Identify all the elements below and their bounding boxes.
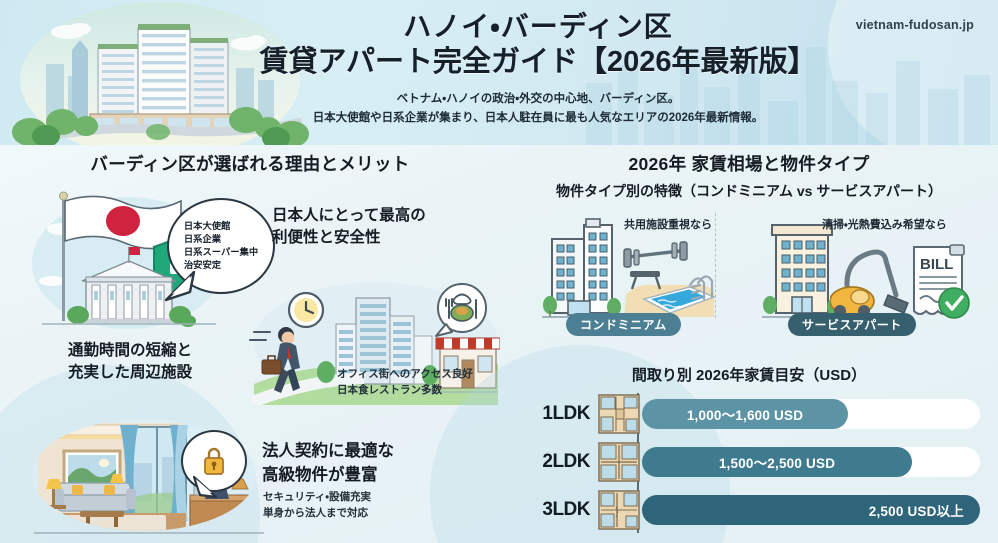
condo-badge: コンドミニアム — [566, 313, 681, 336]
benefit-2-line2: 充実した周辺施設 — [68, 362, 192, 384]
benefit-2-line1: 通勤時間の短縮と — [68, 340, 192, 362]
right-section-title: 2026年 家賃相場と物件タイプ — [500, 151, 998, 176]
benefit-2-subtext: オフィス街へのアクセス良好 日本食レストラン多数 — [337, 367, 473, 399]
lock-icon — [199, 445, 229, 477]
header-banner: ハノイ・バーディン区 賃貸アパート完全ガイド【2026年最新版】 ベトナム・ハノ… — [0, 0, 998, 145]
condo-building-icon — [542, 215, 622, 325]
page-title-line2: 賃貸アパート完全ガイド【2026年最新版】 — [258, 45, 818, 80]
bubble-tail-icon — [160, 270, 200, 304]
benefit-3-line1: 法人契約に最適な — [262, 440, 394, 464]
chart-bar-value-3ldk: 2,500 USD以上 — [869, 500, 964, 520]
bubble-line-1: 日本大使館 — [184, 220, 258, 233]
chart-row-label: 3LDK — [518, 499, 596, 521]
header-subtitle: ベトナム・ハノイの政治・外交の中心地、バーディン区。 日本大使館や日系企業が集ま… — [258, 90, 818, 128]
chart-title: 間取り別 2026年家賃目安（USD） — [500, 364, 998, 385]
serviced-caption: 清掃・光熱費込み希望なら — [822, 216, 947, 232]
benefit-3-subtext: セキュリティ・設備充実 単身から法人まで対応 — [263, 490, 371, 522]
body-content: バーディン区が選ばれる理由とメリット — [0, 145, 998, 543]
benefit-2-heading: 通勤時間の短縮と 充実した周辺施設 — [68, 340, 192, 385]
chart-bar-value-1ldk: 1,000〜1,600 USD — [687, 404, 803, 424]
embassy-bubble-text: 日本大使館 日系企業 日系スーパー集中 治安安定 — [184, 220, 258, 273]
benefit-1-line2: 利便性と安全性 — [272, 227, 426, 249]
infographic-canvas: ハノイ・バーディン区 賃貸アパート完全ガイド【2026年最新版】 ベトナム・ハノ… — [0, 0, 998, 543]
property-type-subheading: 物件タイプ別の特徴（コンドミニアム vs サービスアパート） — [500, 181, 998, 201]
gym-dumbbell-icon — [624, 242, 687, 267]
serviced-badge: サービスアパート — [788, 313, 916, 336]
benefit-3-sub1: セキュリティ・設備充実 — [263, 490, 371, 506]
security-bubble-tail-icon — [190, 475, 224, 501]
bubble-line-2: 日系企業 — [184, 233, 258, 246]
gym-pool-illustration — [618, 237, 718, 323]
bill-check-icon: BILL — [914, 245, 969, 318]
header-subtitle-line1: ベトナム・ハノイの政治・外交の中心地、バーディン区。 — [258, 90, 818, 109]
chart-bar-value-2ldk: 1,500〜2,500 USD — [719, 452, 835, 472]
chart-bar-2ldk: 1,500〜2,500 USD — [642, 447, 912, 477]
right-column: 2026年 家賃相場と物件タイプ 物件タイプ別の特徴（コンドミニアム vs サー… — [500, 145, 998, 543]
header-text-block: ハノイ・バーディン区 賃貸アパート完全ガイド【2026年最新版】 ベトナム・ハノ… — [258, 10, 818, 128]
left-column: バーディン区が選ばれる理由とメリット — [0, 145, 500, 543]
benefit-1-line1: 日本人にとって最高の — [272, 205, 426, 227]
chart-bar-3ldk: 2,500 USD以上 — [642, 495, 980, 525]
left-section-title: バーディン区が選ばれる理由とメリット — [0, 151, 500, 176]
benefit-2-sub2: 日本食レストラン多数 — [337, 383, 473, 399]
chart-bar-1ldk: 1,000〜1,600 USD — [642, 399, 848, 429]
site-url-label: vietnam-fudosan.jp — [856, 18, 974, 32]
cleaning-bill-illustration: BILL — [830, 237, 970, 323]
benefit-3-line2: 高級物件が豊富 — [262, 464, 394, 488]
condo-caption: 共用施設重視なら — [624, 216, 712, 232]
benefit-1-heading: 日本人にとって最高の 利便性と安全性 — [272, 205, 426, 250]
page-title-line1: ハノイ・バーディン区 — [258, 10, 818, 43]
chart-row-label: 1LDK — [518, 403, 596, 425]
svg-text:BILL: BILL — [920, 256, 953, 273]
benefit-2-sub1: オフィス街へのアクセス良好 — [337, 367, 473, 383]
vacuum-cleaner-icon — [830, 252, 908, 317]
header-subtitle-line2: 日本大使館や日系企業が集まり、日本人駐在員に最も人気なエリアの2026年最新情報… — [258, 109, 818, 128]
benefit-3-sub2: 単身から法人まで対応 — [263, 506, 371, 522]
floorplan-1ldk-icon — [596, 393, 642, 435]
benefit-3-heading: 法人契約に最適な 高級物件が豊富 — [262, 440, 394, 488]
chart-row-label: 2LDK — [518, 451, 596, 473]
bubble-line-3: 日系スーパー集中 — [184, 246, 258, 259]
floorplan-3ldk-icon — [596, 489, 642, 531]
floorplan-2ldk-icon — [596, 441, 642, 483]
rent-bar-chart: 1LDK 1,000〜1,600 USD — [518, 393, 980, 533]
